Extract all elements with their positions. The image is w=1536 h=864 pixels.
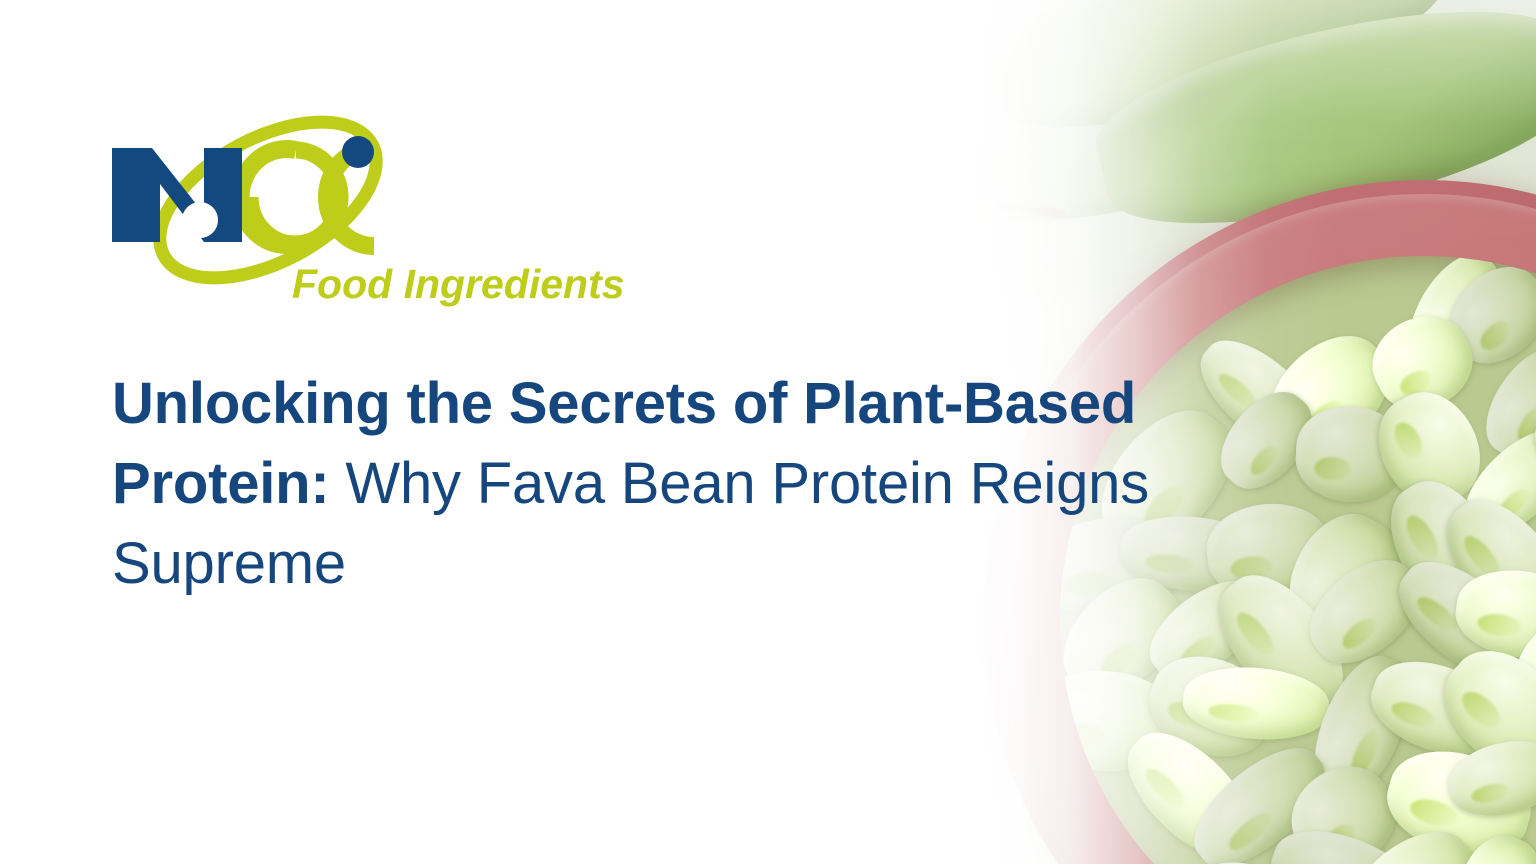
logo-letter-n bbox=[112, 148, 242, 242]
logo-blue-dot bbox=[342, 136, 374, 168]
page-title: Unlocking the Secrets of Plant-Based Pro… bbox=[112, 364, 1222, 604]
ncc-logo-mark: Food Ingredients bbox=[100, 110, 640, 310]
logo-tagline: Food Ingredients bbox=[292, 261, 625, 307]
ncc-logo[interactable]: Food Ingredients bbox=[100, 110, 640, 310]
banner-slide: Food Ingredients Unlocking the Secrets o… bbox=[0, 0, 1536, 864]
